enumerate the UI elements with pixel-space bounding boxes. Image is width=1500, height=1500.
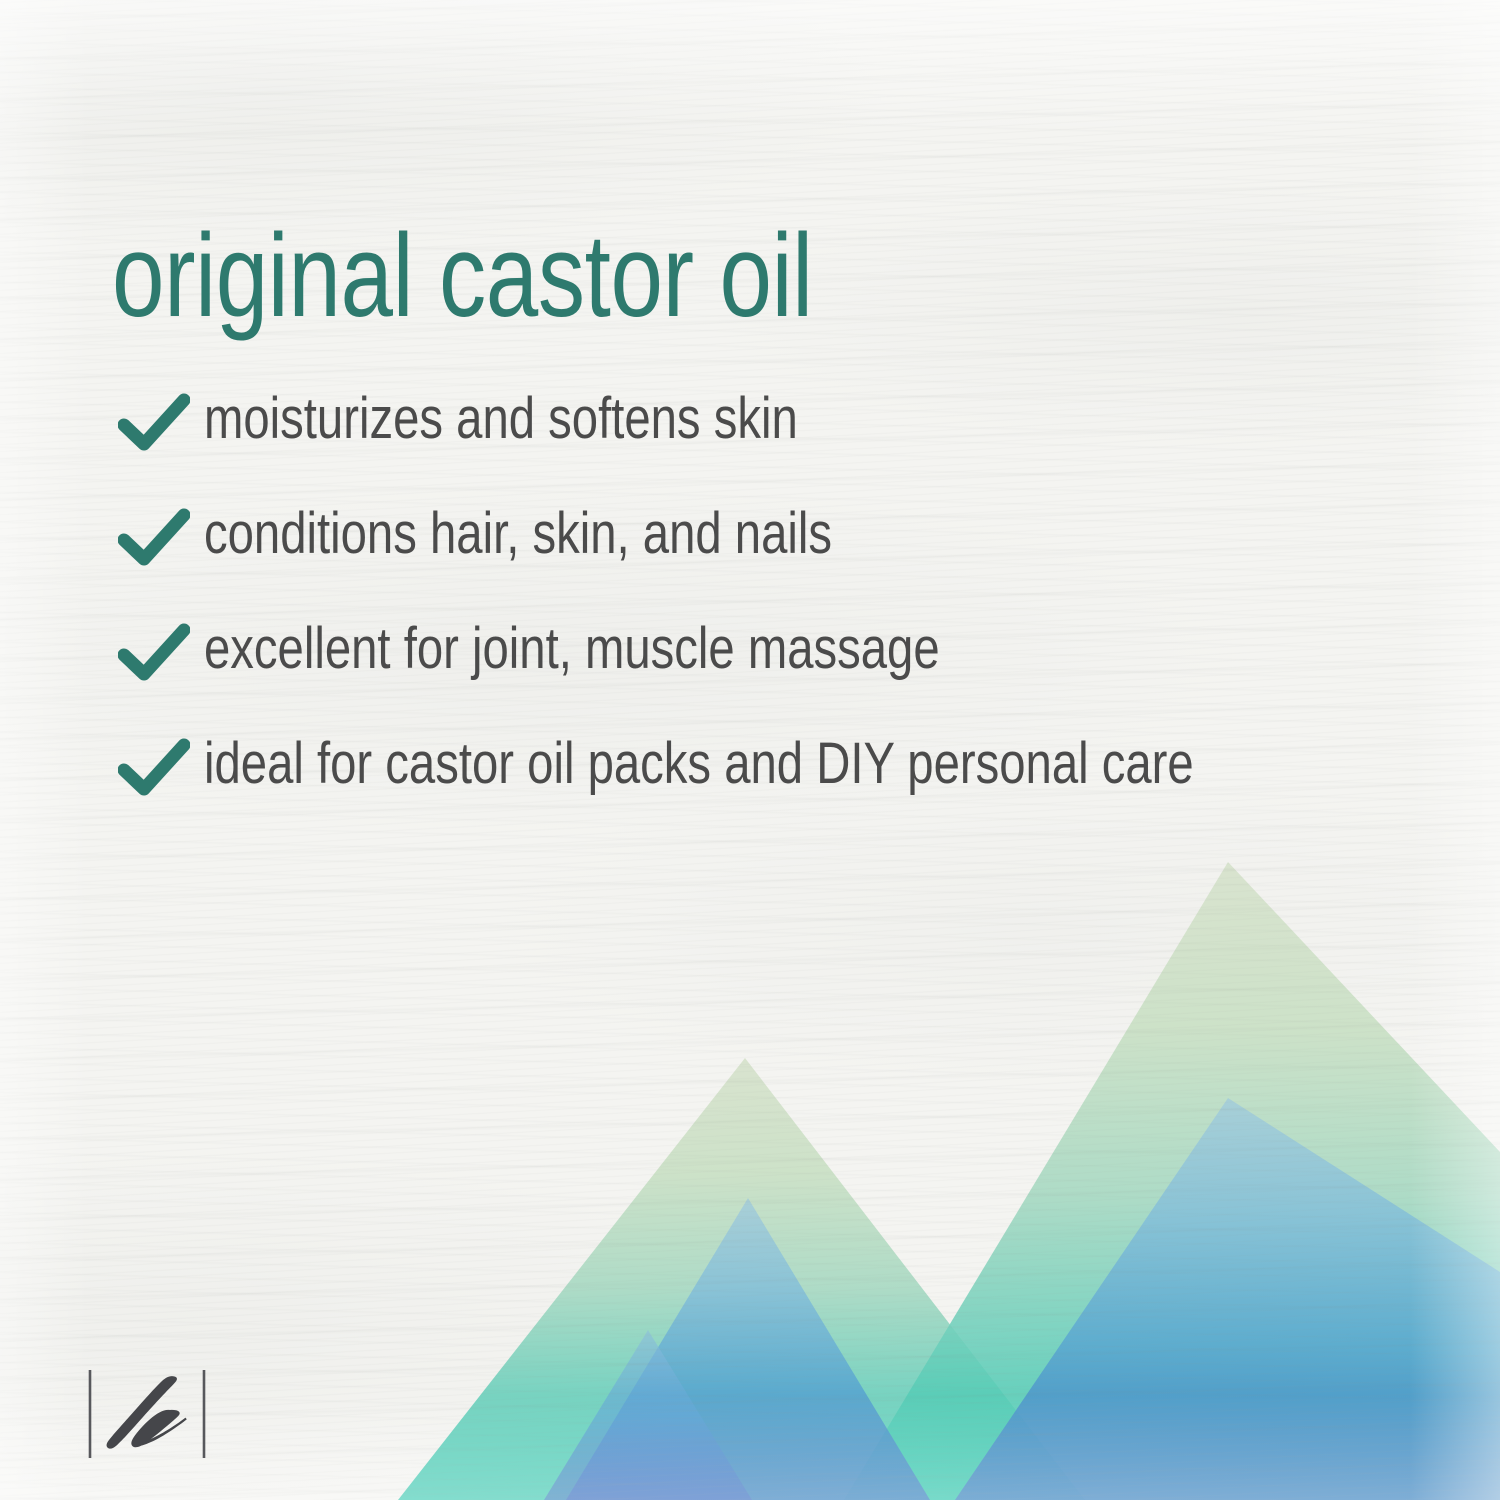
check-icon [118, 507, 190, 569]
benefits-list: moisturizes and softens skin conditions … [112, 386, 1442, 846]
benefit-text: ideal for castor oil packs and DIY perso… [204, 731, 1194, 797]
check-icon [118, 622, 190, 684]
list-item: conditions hair, skin, and nails [112, 501, 1442, 616]
product-infographic: original castor oil moisturizes and soft… [0, 0, 1500, 1500]
brand-logo [86, 1364, 210, 1464]
page-title: original castor oil [112, 217, 813, 335]
logo-script-h-mark [107, 1376, 187, 1449]
benefit-text: excellent for joint, muscle massage [204, 616, 940, 682]
check-icon [118, 392, 190, 454]
benefit-text: conditions hair, skin, and nails [204, 501, 832, 567]
benefit-text: moisturizes and softens skin [204, 386, 798, 452]
list-item: moisturizes and softens skin [112, 386, 1442, 501]
list-item: ideal for castor oil packs and DIY perso… [112, 731, 1442, 846]
check-icon [118, 737, 190, 799]
list-item: excellent for joint, muscle massage [112, 616, 1442, 731]
